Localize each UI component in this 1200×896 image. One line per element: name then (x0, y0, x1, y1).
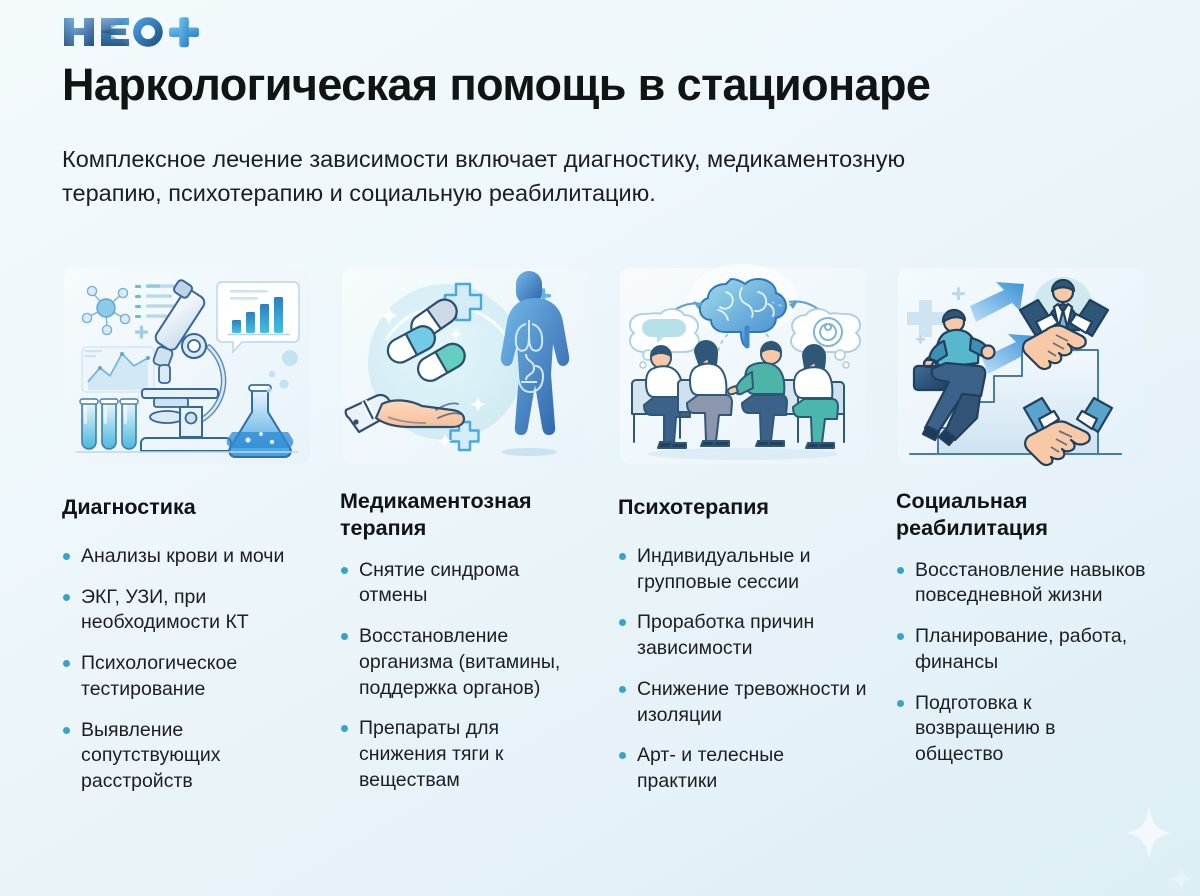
list-item: Снижение тревожности и изоляции (618, 677, 868, 728)
list-item: Психологическое тестирование (62, 651, 312, 702)
list-item: Индивидуальные и групповые сессии (618, 544, 868, 595)
list-item: Снятие синдрома отмены (340, 558, 590, 609)
test-tubes-icon (80, 399, 138, 449)
lab-diagnostics-illustration (62, 262, 312, 470)
bar-chart-card (217, 282, 299, 352)
group-therapy-illustration (618, 262, 868, 470)
column-title-social-rehabilitation: Социальная реабилитация (896, 488, 1146, 542)
brand-logo (62, 12, 202, 52)
infographic-page: Наркологическая помощь в стационаре Комп… (0, 0, 1200, 896)
list-item: Арт- и телесные практики (618, 743, 868, 794)
bullet-list-social-rehabilitation: Восстановление навыков повседневной жизн… (896, 558, 1146, 768)
column-diagnostics: Диагностика Анализы крови и мочи ЭКГ, УЗ… (48, 262, 326, 810)
bullet-list-diagnostics: Анализы крови и мочи ЭКГ, УЗИ, при необх… (62, 544, 312, 795)
social-rehabilitation-illustration (896, 262, 1146, 470)
column-psychotherapy: Психотерапия Индивидуальные и групповые … (604, 262, 882, 810)
list-item: Выявление сопутствующих расстройств (62, 718, 312, 795)
list-item: Препараты для снижения тяги к веществам (340, 716, 590, 793)
service-columns: Диагностика Анализы крови и мочи ЭКГ, УЗ… (48, 262, 1160, 810)
bullet-list-psychotherapy: Индивидуальные и групповые сессии Прораб… (618, 544, 868, 795)
neo-plus-logo-icon (62, 12, 202, 52)
list-item: Восстановление навыков повседневной жизн… (896, 558, 1146, 609)
sparkle-decoration-icon (1126, 806, 1172, 860)
list-item: Планирование, работа, финансы (896, 624, 1146, 675)
list-item: ЭКГ, УЗИ, при необходимости КТ (62, 585, 312, 636)
column-social-rehabilitation: Социальная реабилитация Восстановление н… (882, 262, 1160, 783)
column-medication-therapy: Медикаментозная терапия Снятие синдрома … (326, 262, 604, 809)
page-title: Наркологическая помощь в стационаре (62, 60, 930, 110)
column-title-psychotherapy: Психотерапия (618, 494, 868, 522)
bullet-list-medication-therapy: Снятие синдрома отмены Восстановление ор… (340, 558, 590, 794)
medication-therapy-illustration (340, 262, 590, 470)
list-item: Подготовка к возвращению в общество (896, 691, 1146, 768)
list-item: Восстановление организма (витамины, подд… (340, 624, 590, 701)
list-item: Проработка причин зависимости (618, 610, 868, 661)
sparkle-decoration-small-icon (1170, 866, 1192, 892)
column-title-diagnostics: Диагностика (62, 494, 312, 522)
page-subtitle: Комплексное лечение зависимости включает… (62, 143, 962, 211)
column-title-medication-therapy: Медикаментозная терапия (340, 488, 590, 542)
list-item: Анализы крови и мочи (62, 544, 312, 570)
